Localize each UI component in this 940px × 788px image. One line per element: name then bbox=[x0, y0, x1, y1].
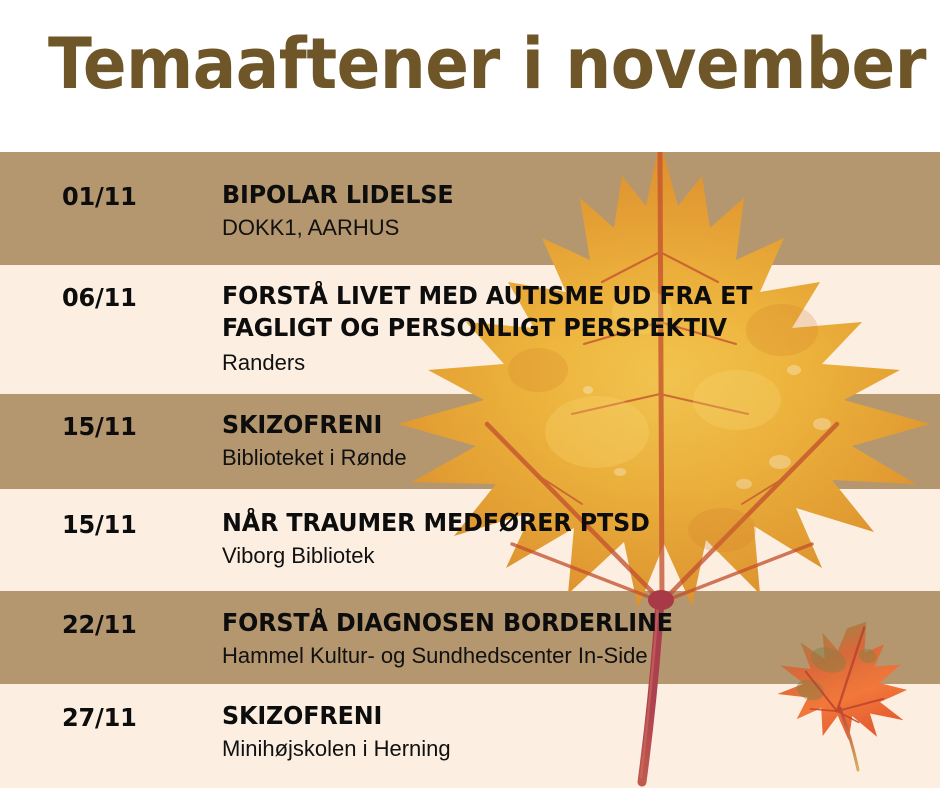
event-title: FORSTÅ LIVET MED AUTISME UD FRA ET FAGLI… bbox=[222, 280, 752, 344]
event-row-6[interactable]: 27/11 SKIZOFRENI Minihøjskolen i Herning bbox=[0, 684, 940, 788]
event-title-line1: FORSTÅ LIVET MED AUTISME UD FRA ET bbox=[222, 281, 752, 310]
event-place: Randers bbox=[222, 349, 305, 376]
event-date: 27/11 bbox=[62, 703, 137, 732]
event-title: NÅR TRAUMER MEDFØRER PTSD bbox=[222, 507, 650, 539]
event-title: SKIZOFRENI bbox=[222, 409, 382, 441]
event-row-5[interactable]: 22/11 FORSTÅ DIAGNOSEN BORDERLINE Hammel… bbox=[0, 591, 940, 684]
event-place: Hammel Kultur- og Sundhedscenter In-Side bbox=[222, 642, 648, 669]
event-place: DOKK1, AARHUS bbox=[222, 214, 399, 241]
event-date: 22/11 bbox=[62, 610, 137, 639]
event-date: 15/11 bbox=[62, 510, 137, 539]
event-title-line1: BIPOLAR LIDELSE bbox=[222, 180, 454, 209]
event-title: BIPOLAR LIDELSE bbox=[222, 179, 454, 211]
poster-header: Temaaftener i november bbox=[0, 0, 940, 152]
event-place: Viborg Bibliotek bbox=[222, 542, 374, 569]
event-title: SKIZOFRENI bbox=[222, 700, 382, 732]
event-row-3[interactable]: 15/11 SKIZOFRENI Biblioteket i Rønde bbox=[0, 394, 940, 489]
event-title-line1: SKIZOFRENI bbox=[222, 410, 382, 439]
event-title-line1: NÅR TRAUMER MEDFØRER PTSD bbox=[222, 508, 650, 537]
event-row-2[interactable]: 06/11 FORSTÅ LIVET MED AUTISME UD FRA ET… bbox=[0, 265, 940, 394]
event-date: 06/11 bbox=[62, 283, 137, 312]
event-date: 01/11 bbox=[62, 182, 137, 211]
event-place: Minihøjskolen i Herning bbox=[222, 735, 451, 762]
event-date: 15/11 bbox=[62, 412, 137, 441]
event-row-4[interactable]: 15/11 NÅR TRAUMER MEDFØRER PTSD Viborg B… bbox=[0, 489, 940, 591]
event-title: FORSTÅ DIAGNOSEN BORDERLINE bbox=[222, 607, 673, 639]
event-title-line1: SKIZOFRENI bbox=[222, 701, 382, 730]
event-title-line2: FAGLIGT OG PERSONLIGT PERSPEKTIV bbox=[222, 312, 752, 344]
event-title-line1: FORSTÅ DIAGNOSEN BORDERLINE bbox=[222, 608, 673, 637]
event-row-1[interactable]: 01/11 BIPOLAR LIDELSE DOKK1, AARHUS bbox=[0, 152, 940, 265]
event-place: Biblioteket i Rønde bbox=[222, 444, 407, 471]
poster-canvas: 01/11 BIPOLAR LIDELSE DOKK1, AARHUS 06/1… bbox=[0, 0, 940, 788]
page-title: Temaaftener i november bbox=[48, 22, 926, 106]
